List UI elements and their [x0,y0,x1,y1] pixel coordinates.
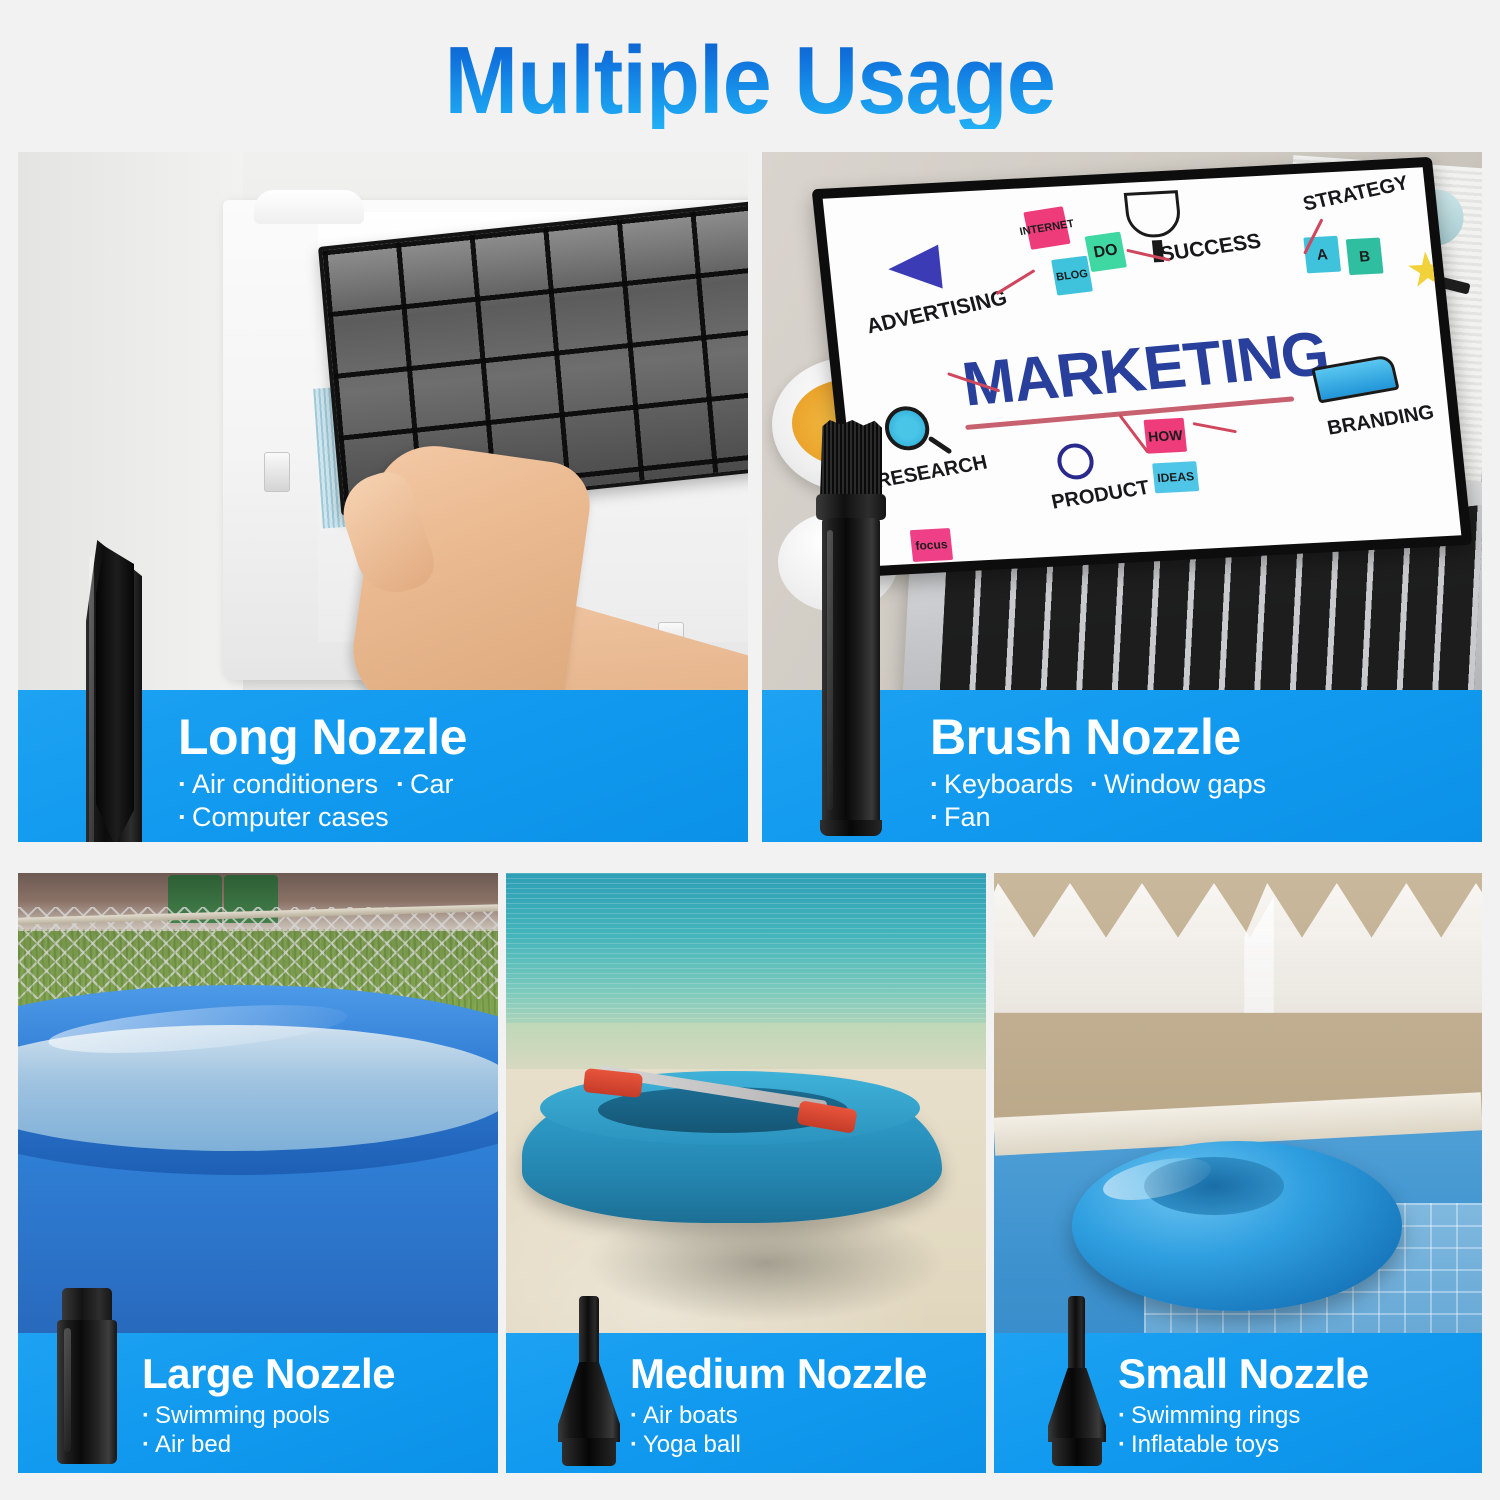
laptop-screen: ADVERTISING INTERNET BLOG DO SUCCESS STR… [812,157,1473,577]
mindmap-word-success: SUCCESS [1158,230,1263,268]
brush-nozzle-icon [812,420,888,840]
bullet-item: Swimming rings [1118,1401,1300,1430]
sea-water [506,873,986,1033]
award-badge-icon [1056,443,1096,481]
magnifier-icon [883,405,932,451]
sticky-note-blog: BLOG [1051,256,1093,296]
sticky-note-how: HOW [1144,418,1188,454]
bullet-row: Fan [930,801,1266,834]
bullet-row: Air bed [142,1430,395,1459]
panel-title-small-nozzle: Small Nozzle [1118,1353,1369,1395]
bullet-item: Keyboards [930,768,1090,801]
page-title: Multiple Usage [445,33,1055,129]
sticky-note-internet: INTERNET [1023,206,1070,250]
bullet-list-small-nozzle: Swimming rings Inflatable toys [1118,1401,1369,1460]
bullet-item: Air bed [142,1430,231,1459]
sticky-note-ideas: IDEAS [1152,461,1199,493]
bullet-row: Swimming pools [142,1401,395,1430]
panel-title-large-nozzle: Large Nozzle [142,1353,395,1395]
arrow-icon [995,269,1035,295]
small-cone-nozzle-icon [1046,1296,1108,1468]
panel-title-long-nozzle: Long Nozzle [178,712,467,762]
mindmap-word-strategy: STRATEGY [1300,172,1410,217]
bullet-row: Air conditioners Car [178,768,467,801]
bullet-row: Computer cases [178,801,467,834]
bullet-list-long-nozzle: Air conditioners Car Computer cases [178,768,467,834]
mindmap-word-research: RESEARCH [874,452,989,494]
bullet-row: Air boats [630,1401,927,1430]
panel-long-nozzle[interactable]: Long Nozzle Air conditioners Car Compute… [18,152,748,842]
panel-title-medium-nozzle: Medium Nozzle [630,1353,927,1395]
panel-large-nozzle[interactable]: Large Nozzle Swimming pools Air bed [18,873,498,1473]
caption-content: Large Nozzle Swimming pools Air bed [142,1353,395,1460]
panel-medium-nozzle[interactable]: Medium Nozzle Air boats Yoga ball [506,873,986,1473]
panel-title-brush-nozzle: Brush Nozzle [930,712,1266,762]
large-cylinder-nozzle-icon [56,1288,118,1464]
bullet-row: Yoga ball [630,1430,927,1459]
mindmap-word-branding: BRANDING [1326,401,1437,440]
crevice-nozzle-icon [80,540,148,842]
bullet-item: Inflatable toys [1118,1430,1279,1459]
marketing-mindmap: ADVERTISING INTERNET BLOG DO SUCCESS STR… [823,167,1462,566]
bullet-item: Window gaps [1090,768,1266,801]
bullet-list-large-nozzle: Swimming pools Air bed [142,1401,395,1460]
bullet-row: Inflatable toys [1118,1430,1369,1459]
megaphone-icon [886,245,943,291]
mindmap-word-product: PRODUCT [1050,477,1152,515]
caption-content: Medium Nozzle Air boats Yoga ball [630,1353,927,1460]
sticky-note-do: DO [1085,232,1127,273]
panel-brush-nozzle[interactable]: ADVERTISING INTERNET BLOG DO SUCCESS STR… [762,152,1482,842]
caption-content: Small Nozzle Swimming rings Inflatable t… [1118,1353,1369,1460]
bullet-item: Car [396,768,454,801]
sticky-note-b: B [1346,238,1384,276]
air-conditioner-louver [254,190,364,224]
bullet-row: Keyboards Window gaps [930,768,1266,801]
bullet-row: Swimming rings [1118,1401,1369,1430]
page-header: Multiple Usage [0,26,1500,136]
bullet-item: Fan [930,801,991,834]
caption-content: Brush Nozzle Keyboards Window gaps Fan [930,712,1266,834]
trophy-icon [1124,190,1183,239]
bullet-item: Computer cases [178,801,389,834]
mindmap-word-marketing: MARKETING [958,318,1333,420]
medium-cone-nozzle-icon [556,1296,622,1468]
arrow-icon [1193,422,1237,433]
bullet-item: Air boats [630,1401,738,1430]
sticky-note-focus: focus [910,528,953,562]
bullet-list-medium-nozzle: Air boats Yoga ball [630,1401,927,1460]
bullet-list-brush-nozzle: Keyboards Window gaps Fan [930,768,1266,834]
bullet-item: Swimming pools [142,1401,330,1430]
bullet-item: Air conditioners [178,768,396,801]
mindmap-word-advertising: ADVERTISING [864,286,1010,339]
caption-content: Long Nozzle Air conditioners Car Compute… [178,712,467,834]
filter-clip-left [264,452,290,492]
panel-small-nozzle[interactable]: Small Nozzle Swimming rings Inflatable t… [994,873,1482,1473]
bullet-item: Yoga ball [630,1430,741,1459]
